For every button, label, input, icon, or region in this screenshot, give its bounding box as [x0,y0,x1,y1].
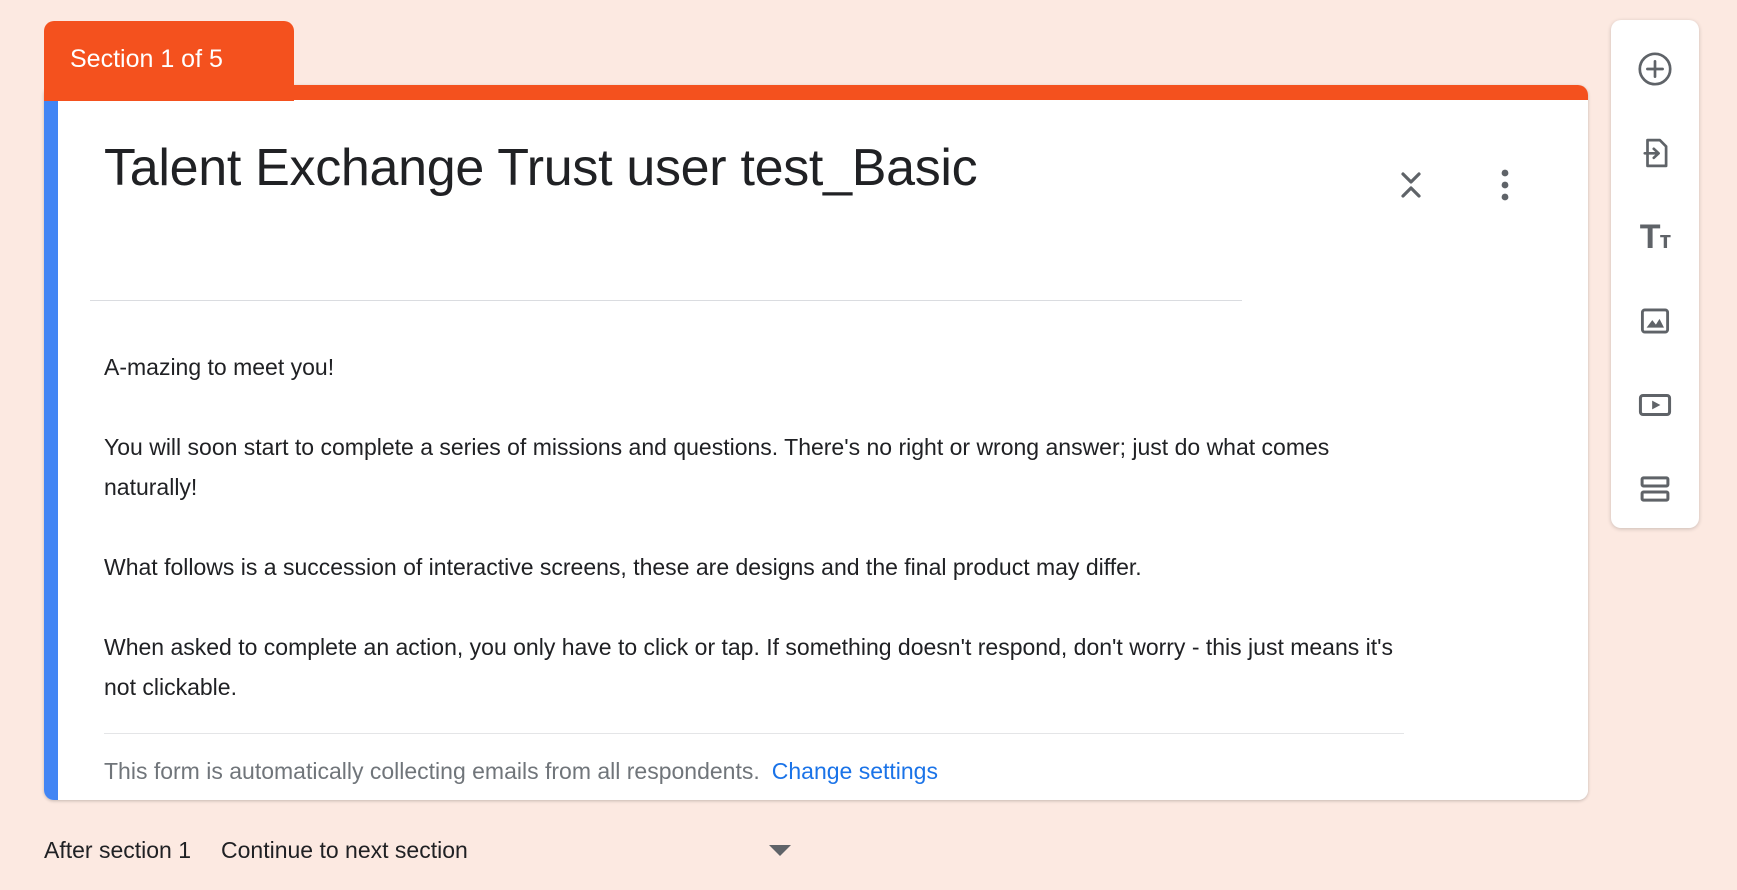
section-tab-label: Section 1 of 5 [70,45,223,74]
card-blue-accent-strip [44,100,58,800]
section-tab[interactable]: Section 1 of 5 [44,21,294,101]
collapse-section-icon[interactable] [1390,164,1432,206]
title-divider [90,300,1242,301]
description-paragraph: A-mazing to meet you! [104,347,1409,387]
after-section-label: After section 1 [44,837,191,864]
description-paragraph: When asked to complete an action, you on… [104,627,1409,707]
add-section-icon[interactable] [1632,466,1678,512]
title-actions [1390,138,1538,206]
description-paragraph: What follows is a succession of interact… [104,547,1409,587]
description-paragraph: You will soon start to complete a series… [104,427,1409,507]
google-forms-editor: Section 1 of 5 Talent Exchange Trust use… [0,0,1737,890]
add-title-icon[interactable]: Tт [1632,214,1678,260]
add-question-icon[interactable] [1632,46,1678,92]
change-settings-link[interactable]: Change settings [772,758,938,784]
form-description[interactable]: A-mazing to meet you! You will soon star… [104,347,1409,707]
email-collection-notice: This form is automatically collecting em… [104,758,1538,785]
import-questions-icon[interactable] [1632,130,1678,176]
after-section-selected-value: Continue to next section [221,837,769,864]
email-notice-text: This form is automatically collecting em… [104,758,760,784]
after-section-select[interactable]: Continue to next section [221,837,981,864]
form-section-card[interactable]: Talent Exchange Trust user test_Basic [44,85,1588,800]
title-row: Talent Exchange Trust user test_Basic [104,130,1538,206]
form-title[interactable]: Talent Exchange Trust user test_Basic [104,138,1390,199]
add-image-icon[interactable] [1632,298,1678,344]
more-options-icon[interactable] [1484,164,1526,206]
chevron-down-icon [769,845,791,856]
editor-toolbar: Tт [1611,20,1699,528]
after-section-bar: After section 1 Continue to next section [44,825,1144,875]
add-video-icon[interactable] [1632,382,1678,428]
notice-divider [104,733,1404,734]
